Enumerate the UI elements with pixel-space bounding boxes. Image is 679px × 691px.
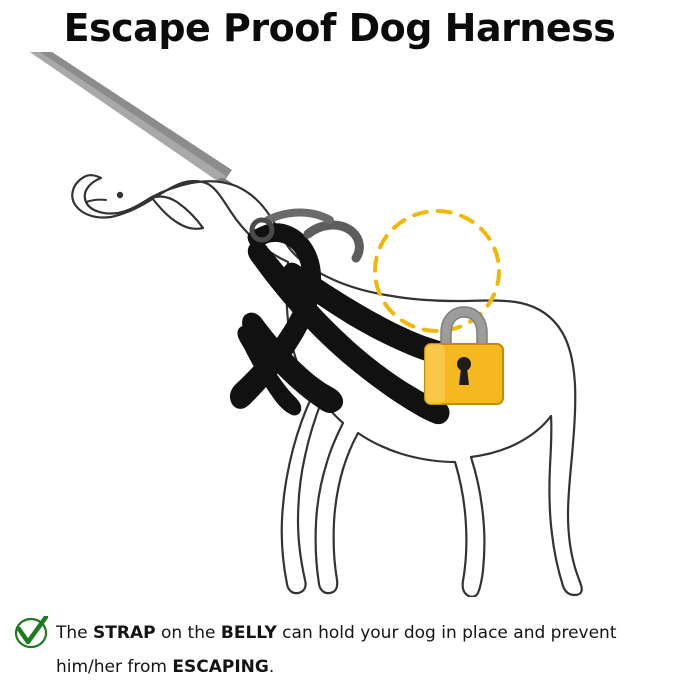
caption-text: The STRAP on the BELLY can hold your dog… bbox=[56, 616, 670, 684]
caption-strong-escaping: ESCAPING bbox=[172, 657, 268, 677]
dog-harness-illustration bbox=[0, 52, 679, 597]
caption-segment-4: him/her from bbox=[56, 657, 172, 677]
check-mark-icon bbox=[14, 616, 48, 650]
caption-block: The STRAP on the BELLY can hold your dog… bbox=[0, 608, 679, 691]
caption-strong-belly: BELLY bbox=[221, 623, 277, 643]
dog-ear bbox=[152, 197, 203, 229]
caption-segment-2: on the bbox=[156, 623, 221, 643]
dog-eye bbox=[117, 192, 123, 198]
product-feature-graphic: Escape Proof Dog Harness bbox=[0, 0, 679, 691]
caption-segment-5: . bbox=[269, 657, 274, 677]
page-title: Escape Proof Dog Harness bbox=[0, 4, 679, 52]
caption-segment-1: The bbox=[56, 623, 93, 643]
caption-segment-3: can hold your dog in place and prevent bbox=[277, 623, 617, 643]
caption-strong-strap: STRAP bbox=[93, 623, 156, 643]
